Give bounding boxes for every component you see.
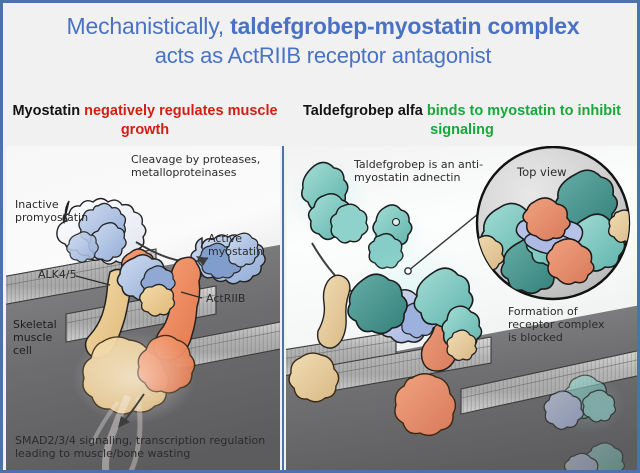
left-illustration-panel: Inactive promyostatin Cleavage by protea… bbox=[6, 146, 280, 473]
label-cleavage: Cleavage by proteases, metalloproteinase… bbox=[131, 153, 260, 179]
right-heading-green: binds to myostatin to inhibit signaling bbox=[427, 103, 621, 138]
right-illustration-panel: Taldefgrobep is an anti- myostatin adnec… bbox=[286, 146, 637, 473]
label-actriib: ActRIIB bbox=[206, 292, 245, 305]
label-active-myostatin: Active myostatin bbox=[208, 232, 263, 258]
label-smad-signaling: SMAD2/3/4 signaling, transcription regul… bbox=[15, 434, 265, 460]
left-heading-black: Myostatin bbox=[12, 103, 84, 119]
title-lead: Mechanistically, bbox=[67, 13, 231, 39]
left-heading-red: negatively regulates muscle growth bbox=[84, 103, 277, 138]
label-alk45: ALK4/5 bbox=[38, 268, 77, 281]
right-panel-heading: Taldefgrobep alfa binds to myostatin to … bbox=[286, 102, 638, 140]
title-line-1: Mechanistically, taldefgrobep-myostatin … bbox=[3, 11, 640, 41]
page-title: Mechanistically, taldefgrobep-myostatin … bbox=[3, 11, 640, 71]
label-top-view: Top view bbox=[517, 166, 567, 179]
right-heading-black: Taldefgrobep alfa bbox=[303, 103, 427, 119]
left-panel-artwork bbox=[6, 146, 280, 473]
left-panel-heading: Myostatin negatively regulates muscle gr… bbox=[9, 102, 281, 140]
label-adnectin-description: Taldefgrobep is an anti- myostatin adnec… bbox=[354, 158, 504, 184]
label-complex-blocked: Formation of receptor complex is blocked bbox=[508, 305, 605, 344]
slide-figure: Mechanistically, taldefgrobep-myostatin … bbox=[0, 0, 640, 473]
label-skeletal-muscle-cell: Skeletal muscle cell bbox=[13, 318, 57, 357]
title-emphasis: taldefgrobep-myostatin complex bbox=[230, 13, 579, 39]
panel-divider bbox=[282, 146, 284, 473]
title-line-2: acts as ActRIIB receptor antagonist bbox=[3, 41, 640, 71]
label-inactive-promyostatin: Inactive promyostatin bbox=[15, 198, 88, 224]
